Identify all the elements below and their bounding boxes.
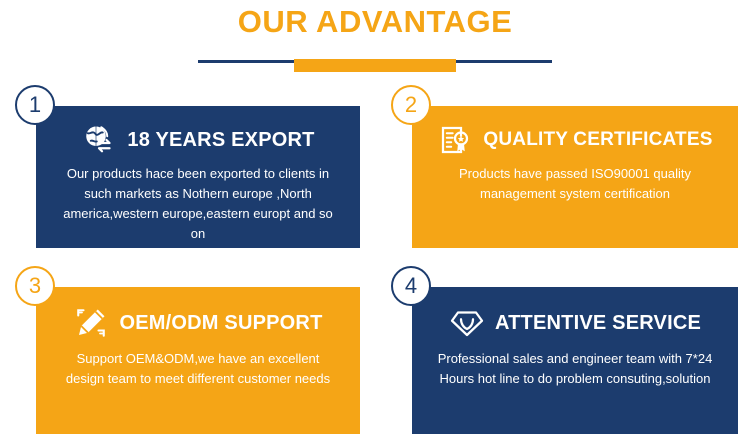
card-number-badge-2: 2 xyxy=(391,85,431,125)
card-number-label-3: 3 xyxy=(29,275,41,297)
card-number-badge-3: 3 xyxy=(15,266,55,306)
card-number-badge-1: 1 xyxy=(15,85,55,125)
card-title-2: QUALITY CERTIFICATES xyxy=(483,129,712,151)
pencil-design-icon xyxy=(73,305,109,341)
card-body-text-2: Products have passed ISO90001 quality ma… xyxy=(434,164,716,204)
certificate-award-icon xyxy=(437,122,473,158)
card-number-badge-4: 4 xyxy=(391,266,431,306)
card-body-text-1: Our products hace been exported to clien… xyxy=(58,164,338,244)
advantage-card-3[interactable]: OEM/ODM SUPPORT Support OEM&ODM,we have … xyxy=(36,287,360,434)
card-number-label-2: 2 xyxy=(405,94,417,116)
advantage-card-1[interactable]: 18 YEARS EXPORT Our products hace been e… xyxy=(36,106,360,248)
card-body-2: Products have passed ISO90001 quality ma… xyxy=(412,164,738,204)
globe-exchange-icon xyxy=(81,122,117,158)
page-title: OUR ADVANTAGE xyxy=(0,4,750,40)
card-body-3: Support OEM&ODM,we have an excellent des… xyxy=(36,349,360,389)
card-title-4: ATTENTIVE SERVICE xyxy=(495,312,701,335)
card-body-1: Our products hace been exported to clien… xyxy=(36,164,360,244)
advantage-card-4[interactable]: ATTENTIVE SERVICE Professional sales and… xyxy=(412,287,738,434)
card-body-text-4: Professional sales and engineer team wit… xyxy=(434,349,716,389)
advantage-card-2[interactable]: QUALITY CERTIFICATES Products have passe… xyxy=(412,106,738,248)
card-title-1: 18 YEARS EXPORT xyxy=(127,129,314,152)
card-heading-2: QUALITY CERTIFICATES xyxy=(412,122,738,158)
card-body-text-3: Support OEM&ODM,we have an excellent des… xyxy=(58,349,338,389)
card-body-4: Professional sales and engineer team wit… xyxy=(412,349,738,389)
diamond-check-icon xyxy=(449,305,485,341)
title-divider xyxy=(198,56,552,72)
card-number-label-4: 4 xyxy=(405,275,417,297)
card-heading-3: OEM/ODM SUPPORT xyxy=(36,305,360,341)
card-title-3: OEM/ODM SUPPORT xyxy=(119,312,322,335)
divider-center-tab xyxy=(294,59,318,72)
card-heading-1: 18 YEARS EXPORT xyxy=(36,122,360,158)
card-heading-4: ATTENTIVE SERVICE xyxy=(412,305,738,341)
card-number-label-1: 1 xyxy=(29,94,41,116)
header-section: OUR ADVANTAGE xyxy=(0,0,750,80)
